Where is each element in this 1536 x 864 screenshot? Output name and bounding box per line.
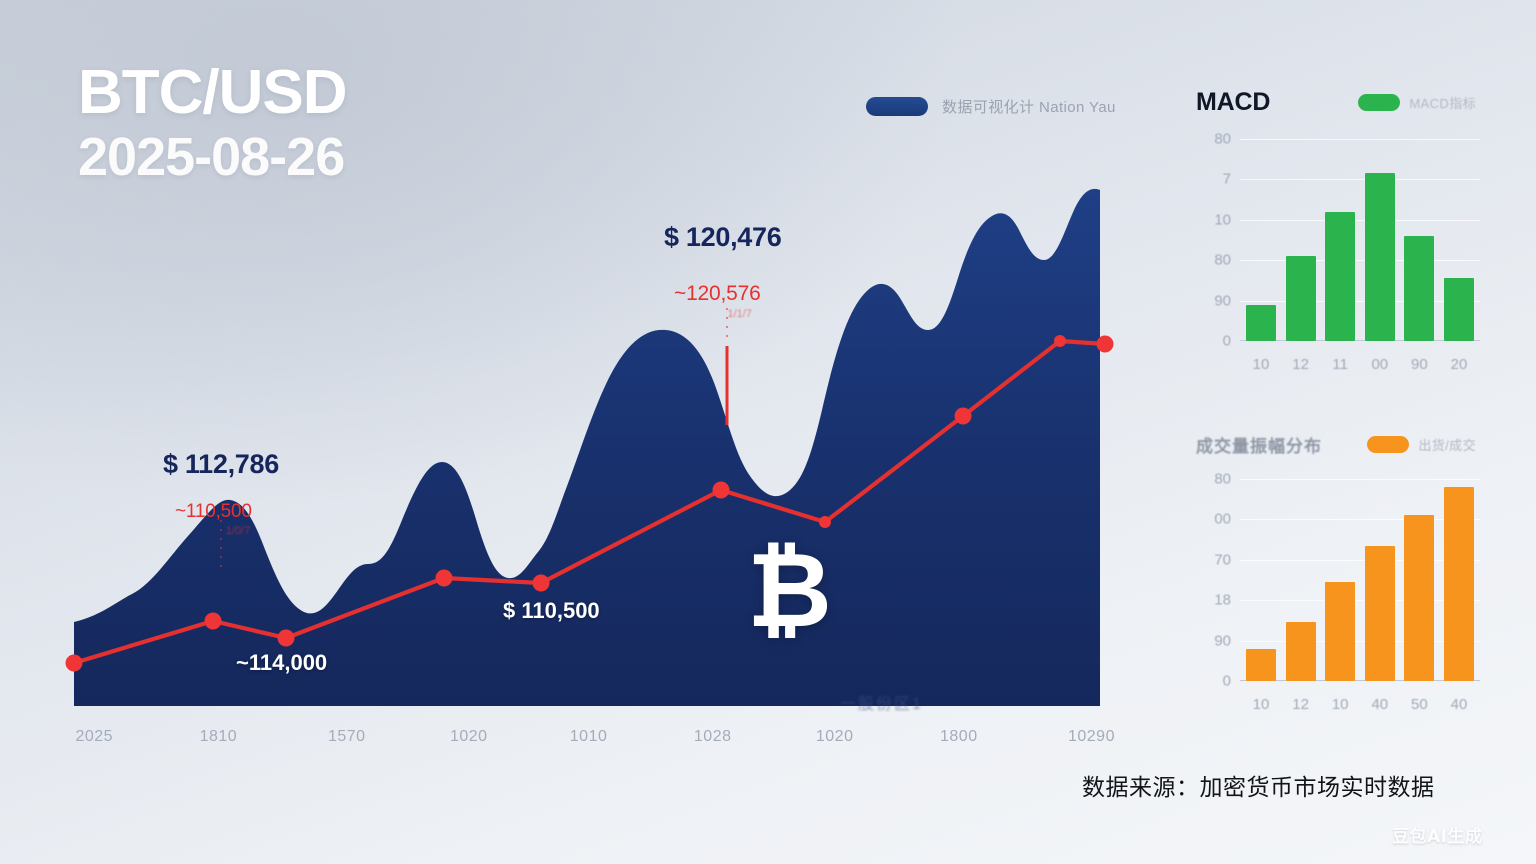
volume-plot-area: 80 00 70 18 90 0 bbox=[1240, 479, 1480, 681]
x-tick: 10 bbox=[1246, 356, 1276, 373]
main-chart-legend: 数据可视化计 Nation Yau bbox=[866, 96, 1116, 117]
annotation-inline-114000: ~114,000 bbox=[236, 650, 327, 676]
bitcoin-icon: ₿ bbox=[747, 540, 827, 640]
ai-watermark: 豆包AI生成 bbox=[1392, 822, 1482, 847]
macd-plot-area: 80 7 10 80 90 0 bbox=[1240, 139, 1480, 341]
bar[interactable] bbox=[1365, 546, 1395, 681]
y-tick: 18 bbox=[1214, 592, 1231, 609]
x-tick: 10290 bbox=[1068, 728, 1115, 746]
y-tick: 7 bbox=[1223, 171, 1231, 188]
macd-legend-label: MACD指标 bbox=[1409, 93, 1476, 112]
x-tick: 1020 bbox=[816, 728, 854, 746]
volume-legend-label: 出货/成交 bbox=[1418, 435, 1476, 454]
x-tick: 50 bbox=[1404, 696, 1434, 713]
y-tick: 80 bbox=[1214, 131, 1231, 148]
area-chart-svg bbox=[60, 150, 1130, 730]
volume-x-ticks: 10 12 10 40 50 40 bbox=[1240, 696, 1480, 713]
x-tick: 40 bbox=[1444, 696, 1474, 713]
annotation-peak-estimate: ~120,576 bbox=[674, 282, 781, 306]
x-tick: 10 bbox=[1246, 696, 1276, 713]
volume-panel-title: 成交量振幅分布 bbox=[1196, 432, 1322, 457]
area-series-path bbox=[74, 189, 1100, 706]
legend-swatch-icon bbox=[1367, 436, 1409, 453]
x-tick: 20 bbox=[1444, 356, 1474, 373]
annotation-left-value: $ 112,786 bbox=[163, 449, 279, 480]
annotation-peak: $ 120,476 ~120,576 1/1/7 bbox=[664, 222, 781, 320]
x-tick: 1028 bbox=[694, 728, 732, 746]
y-tick: 80 bbox=[1214, 471, 1231, 488]
x-tick: 10 bbox=[1325, 696, 1355, 713]
annotation-peak-micro: 1/1/7 bbox=[698, 308, 781, 320]
title-pair: BTC/USD bbox=[78, 62, 347, 124]
x-tick: 12 bbox=[1286, 356, 1316, 373]
y-tick: 0 bbox=[1223, 333, 1231, 350]
y-tick: 10 bbox=[1214, 211, 1231, 228]
macd-bars bbox=[1240, 139, 1480, 341]
y-tick: 70 bbox=[1214, 551, 1231, 568]
data-source-note: 数据来源：加密货币市场实时数据 bbox=[1082, 768, 1435, 802]
y-tick: 00 bbox=[1214, 511, 1231, 528]
main-chart-x-axis: 2025 1810 1570 1020 1010 1028 1020 1800 … bbox=[60, 728, 1130, 756]
legend-swatch-icon bbox=[866, 97, 928, 116]
bar[interactable] bbox=[1444, 487, 1474, 681]
volume-bars bbox=[1240, 479, 1480, 681]
y-tick: 90 bbox=[1214, 292, 1231, 309]
x-tick: 90 bbox=[1404, 356, 1434, 373]
poster-canvas: BTC/USD 2025-08-26 数据可视化计 Nation Yau bbox=[0, 0, 1536, 864]
volume-panel: 成交量振幅分布 出货/成交 80 00 70 18 90 0 bbox=[1196, 432, 1486, 721]
x-tick: 1020 bbox=[450, 728, 488, 746]
x-tick: 2025 bbox=[75, 728, 113, 746]
macd-panel-header: MACD MACD指标 bbox=[1196, 88, 1476, 117]
x-tick: 1570 bbox=[328, 728, 366, 746]
annotation-left-estimate: ~110,500 bbox=[175, 501, 279, 523]
legend-swatch-icon bbox=[1358, 94, 1400, 111]
annotation-peak-value: $ 120,476 bbox=[664, 222, 781, 253]
y-tick: 0 bbox=[1223, 673, 1231, 690]
bar[interactable] bbox=[1444, 278, 1474, 341]
bar[interactable] bbox=[1246, 649, 1276, 681]
x-tick: 1810 bbox=[200, 728, 238, 746]
bar[interactable] bbox=[1246, 305, 1276, 341]
macd-panel: MACD MACD指标 80 7 10 80 90 0 bbox=[1196, 88, 1486, 381]
bar[interactable] bbox=[1404, 236, 1434, 341]
bar[interactable] bbox=[1325, 212, 1355, 341]
macd-x-ticks: 10 12 11 00 90 20 bbox=[1240, 356, 1480, 373]
x-tick: 40 bbox=[1365, 696, 1395, 713]
x-tick: 12 bbox=[1286, 696, 1316, 713]
y-tick: 90 bbox=[1214, 632, 1231, 649]
inner-watermark-text: 一股份区1 bbox=[840, 690, 923, 714]
x-tick: 1010 bbox=[570, 728, 608, 746]
bar[interactable] bbox=[1365, 173, 1395, 341]
macd-panel-title: MACD bbox=[1196, 88, 1270, 117]
legend-label: 数据可视化计 Nation Yau bbox=[942, 96, 1116, 117]
annotation-left: $ 112,786 ~110,500 1/0/7 bbox=[163, 449, 279, 537]
annotation-inline-110500: $ 110,500 bbox=[503, 598, 600, 624]
x-tick: 00 bbox=[1365, 356, 1395, 373]
volume-legend: 出货/成交 bbox=[1367, 435, 1476, 454]
bar[interactable] bbox=[1286, 256, 1316, 341]
macd-legend: MACD指标 bbox=[1358, 93, 1476, 112]
volume-panel-header: 成交量振幅分布 出货/成交 bbox=[1196, 432, 1476, 457]
x-tick: 1800 bbox=[940, 728, 978, 746]
annotation-left-micro: 1/0/7 bbox=[197, 525, 279, 537]
macd-bar-chart: 80 7 10 80 90 0 10 12 11 00 bbox=[1196, 131, 1486, 381]
volume-bar-chart: 80 00 70 18 90 0 10 12 10 40 bbox=[1196, 471, 1486, 721]
x-tick: 11 bbox=[1325, 356, 1355, 373]
y-tick: 80 bbox=[1214, 252, 1231, 269]
bar[interactable] bbox=[1404, 515, 1434, 681]
main-area-chart: ₿ 一股份区1 bbox=[60, 150, 1130, 730]
bar[interactable] bbox=[1286, 622, 1316, 681]
bar[interactable] bbox=[1325, 582, 1355, 681]
